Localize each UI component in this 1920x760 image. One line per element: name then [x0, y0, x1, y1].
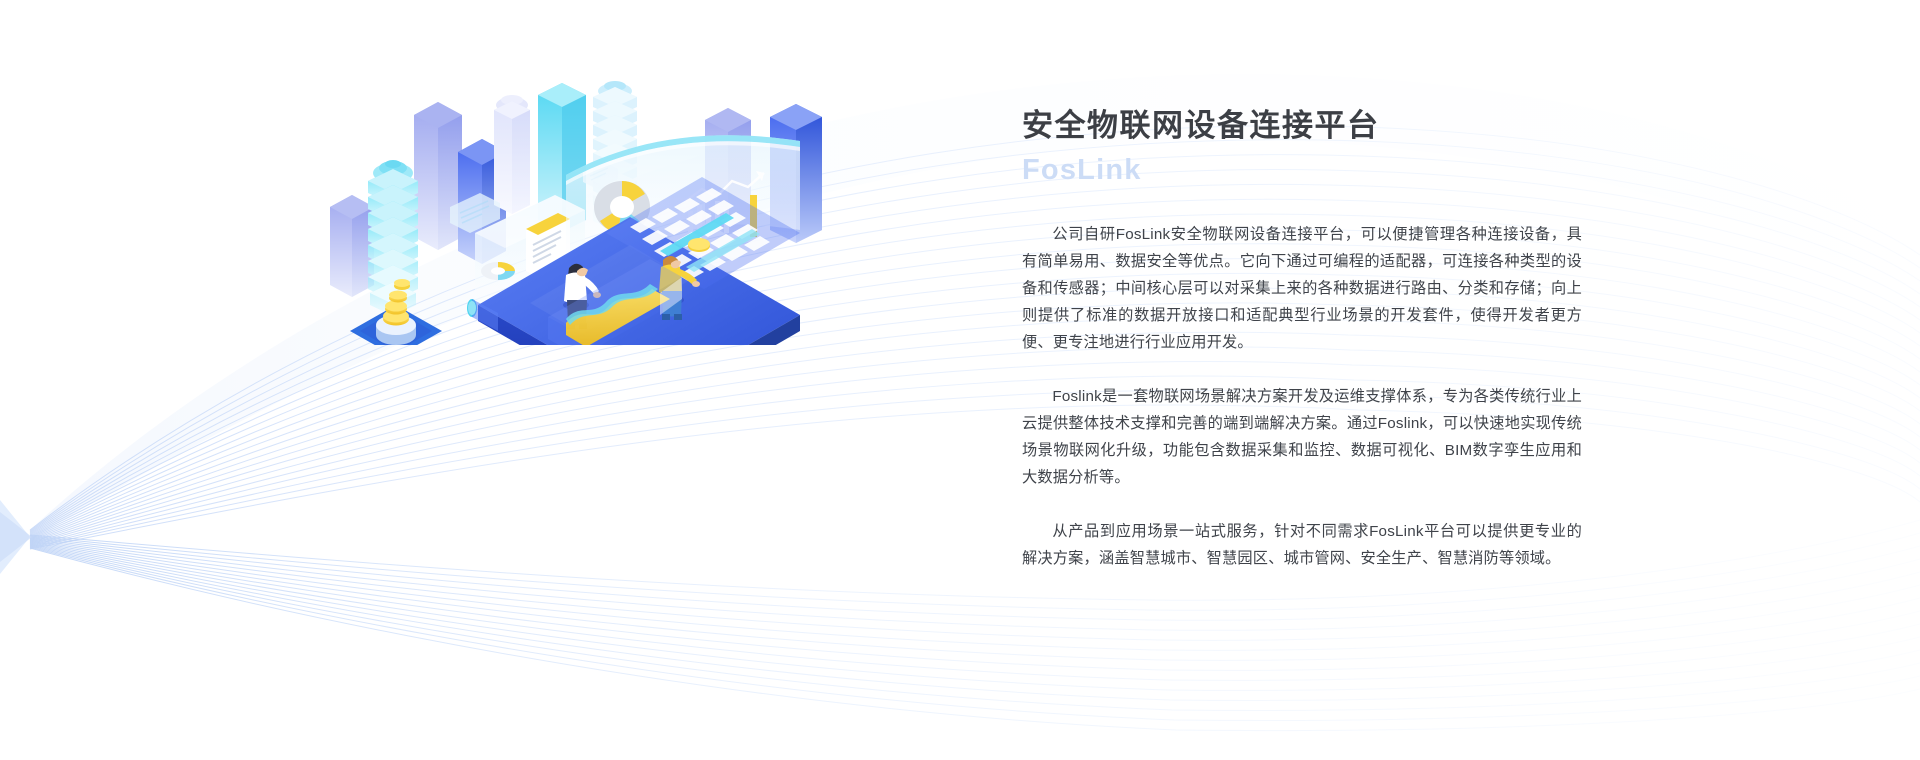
city-building-violet-tall: [414, 102, 462, 250]
city-building-far-left: [330, 195, 374, 297]
city-building-pale-rounded: [494, 95, 530, 214]
donut-chart-small: [481, 262, 515, 280]
content-column: 安全物联网设备连接平台 FosLink 公司自研FosLink安全物联网设备连接…: [1022, 104, 1582, 572]
isometric-iot-platform-illustration: [330, 55, 830, 345]
description-paragraph-2: Foslink是一套物联网场景解决方案开发及运维支撑体系，专为各类传统行业上云提…: [1022, 383, 1582, 491]
background-wave-decoration: [0, 0, 1920, 760]
description-paragraph-3: 从产品到应用场景一站式服务，针对不同需求FosLink平台可以提供更专业的解决方…: [1022, 518, 1582, 572]
page-root: 安全物联网设备连接平台 FosLink 公司自研FosLink安全物联网设备连接…: [0, 0, 1920, 760]
description-paragraph-1: 公司自研FosLink安全物联网设备连接平台，可以便捷管理各种连接设备，具有简单…: [1022, 221, 1582, 356]
page-title: 安全物联网设备连接平台: [1022, 104, 1582, 148]
yellow-token: [688, 238, 710, 252]
product-name: FosLink: [1022, 150, 1582, 190]
